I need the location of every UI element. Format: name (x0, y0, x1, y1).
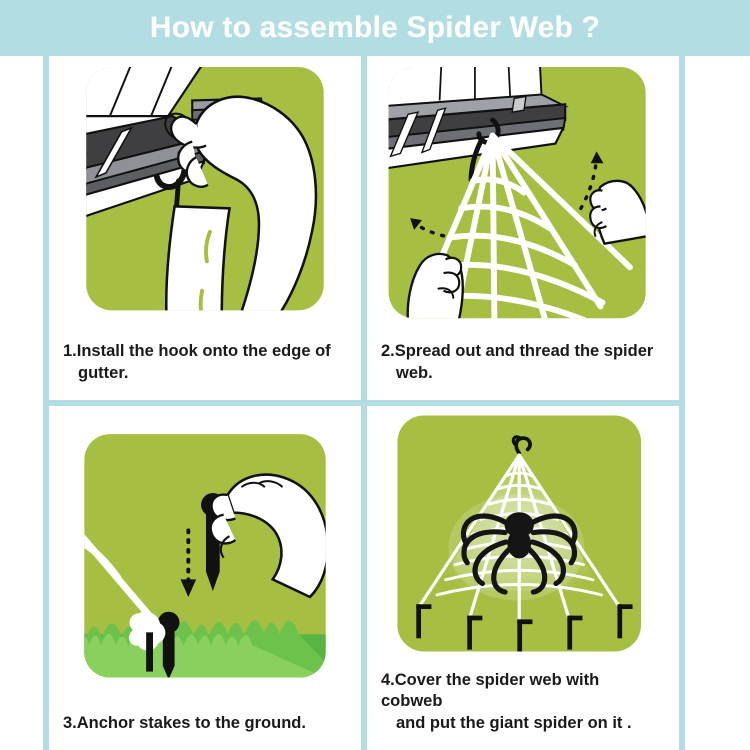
step-2-caption-line1: Spread out and thread the spider (395, 342, 654, 360)
step-2-caption-line2: web. (381, 363, 665, 384)
step-4-illustration (367, 406, 679, 666)
step-card-3: 3.Anchor stakes to the ground. (49, 403, 364, 750)
step-1-caption: 1.Install the hook onto the edge of gutt… (49, 337, 361, 400)
step-2-illustration (367, 56, 679, 337)
spider-abdomen (508, 530, 531, 558)
step-3-illustration (49, 406, 361, 709)
step-4-caption-line1: Cover the spider web with cobweb (381, 671, 599, 710)
forearm (166, 206, 229, 322)
step-4-caption-line2: and put the giant spider on it . (381, 713, 665, 734)
step-1-number: 1. (63, 342, 77, 360)
instruction-sheet: How to assemble Spider Web ? (0, 0, 750, 750)
step-4-number: 4. (381, 671, 395, 689)
step-2-number: 2. (381, 342, 395, 360)
step-3-caption: 3.Anchor stakes to the ground. (49, 709, 361, 750)
step-2-caption: 2.Spread out and thread the spider web. (367, 337, 679, 400)
step-3-number: 3. (63, 714, 77, 732)
page-title: How to assemble Spider Web ? (150, 13, 600, 43)
step-card-4: 4.Cover the spider web with cobweb and p… (364, 403, 679, 750)
step-4-caption: 4.Cover the spider web with cobweb and p… (367, 666, 679, 750)
header-bar: How to assemble Spider Web ? (0, 0, 750, 56)
step-1-caption-line1: Install the hook onto the edge of (77, 342, 331, 360)
step-card-2: 2.Spread out and thread the spider web. (364, 56, 679, 403)
step-card-1: 1.Install the hook onto the edge of gutt… (49, 56, 364, 403)
step-1-caption-line2: gutter. (63, 363, 347, 384)
step-1-illustration (49, 56, 361, 337)
steps-grid: 1.Install the hook onto the edge of gutt… (43, 56, 685, 750)
step-3-caption-line1: Anchor stakes to the ground. (77, 714, 306, 732)
